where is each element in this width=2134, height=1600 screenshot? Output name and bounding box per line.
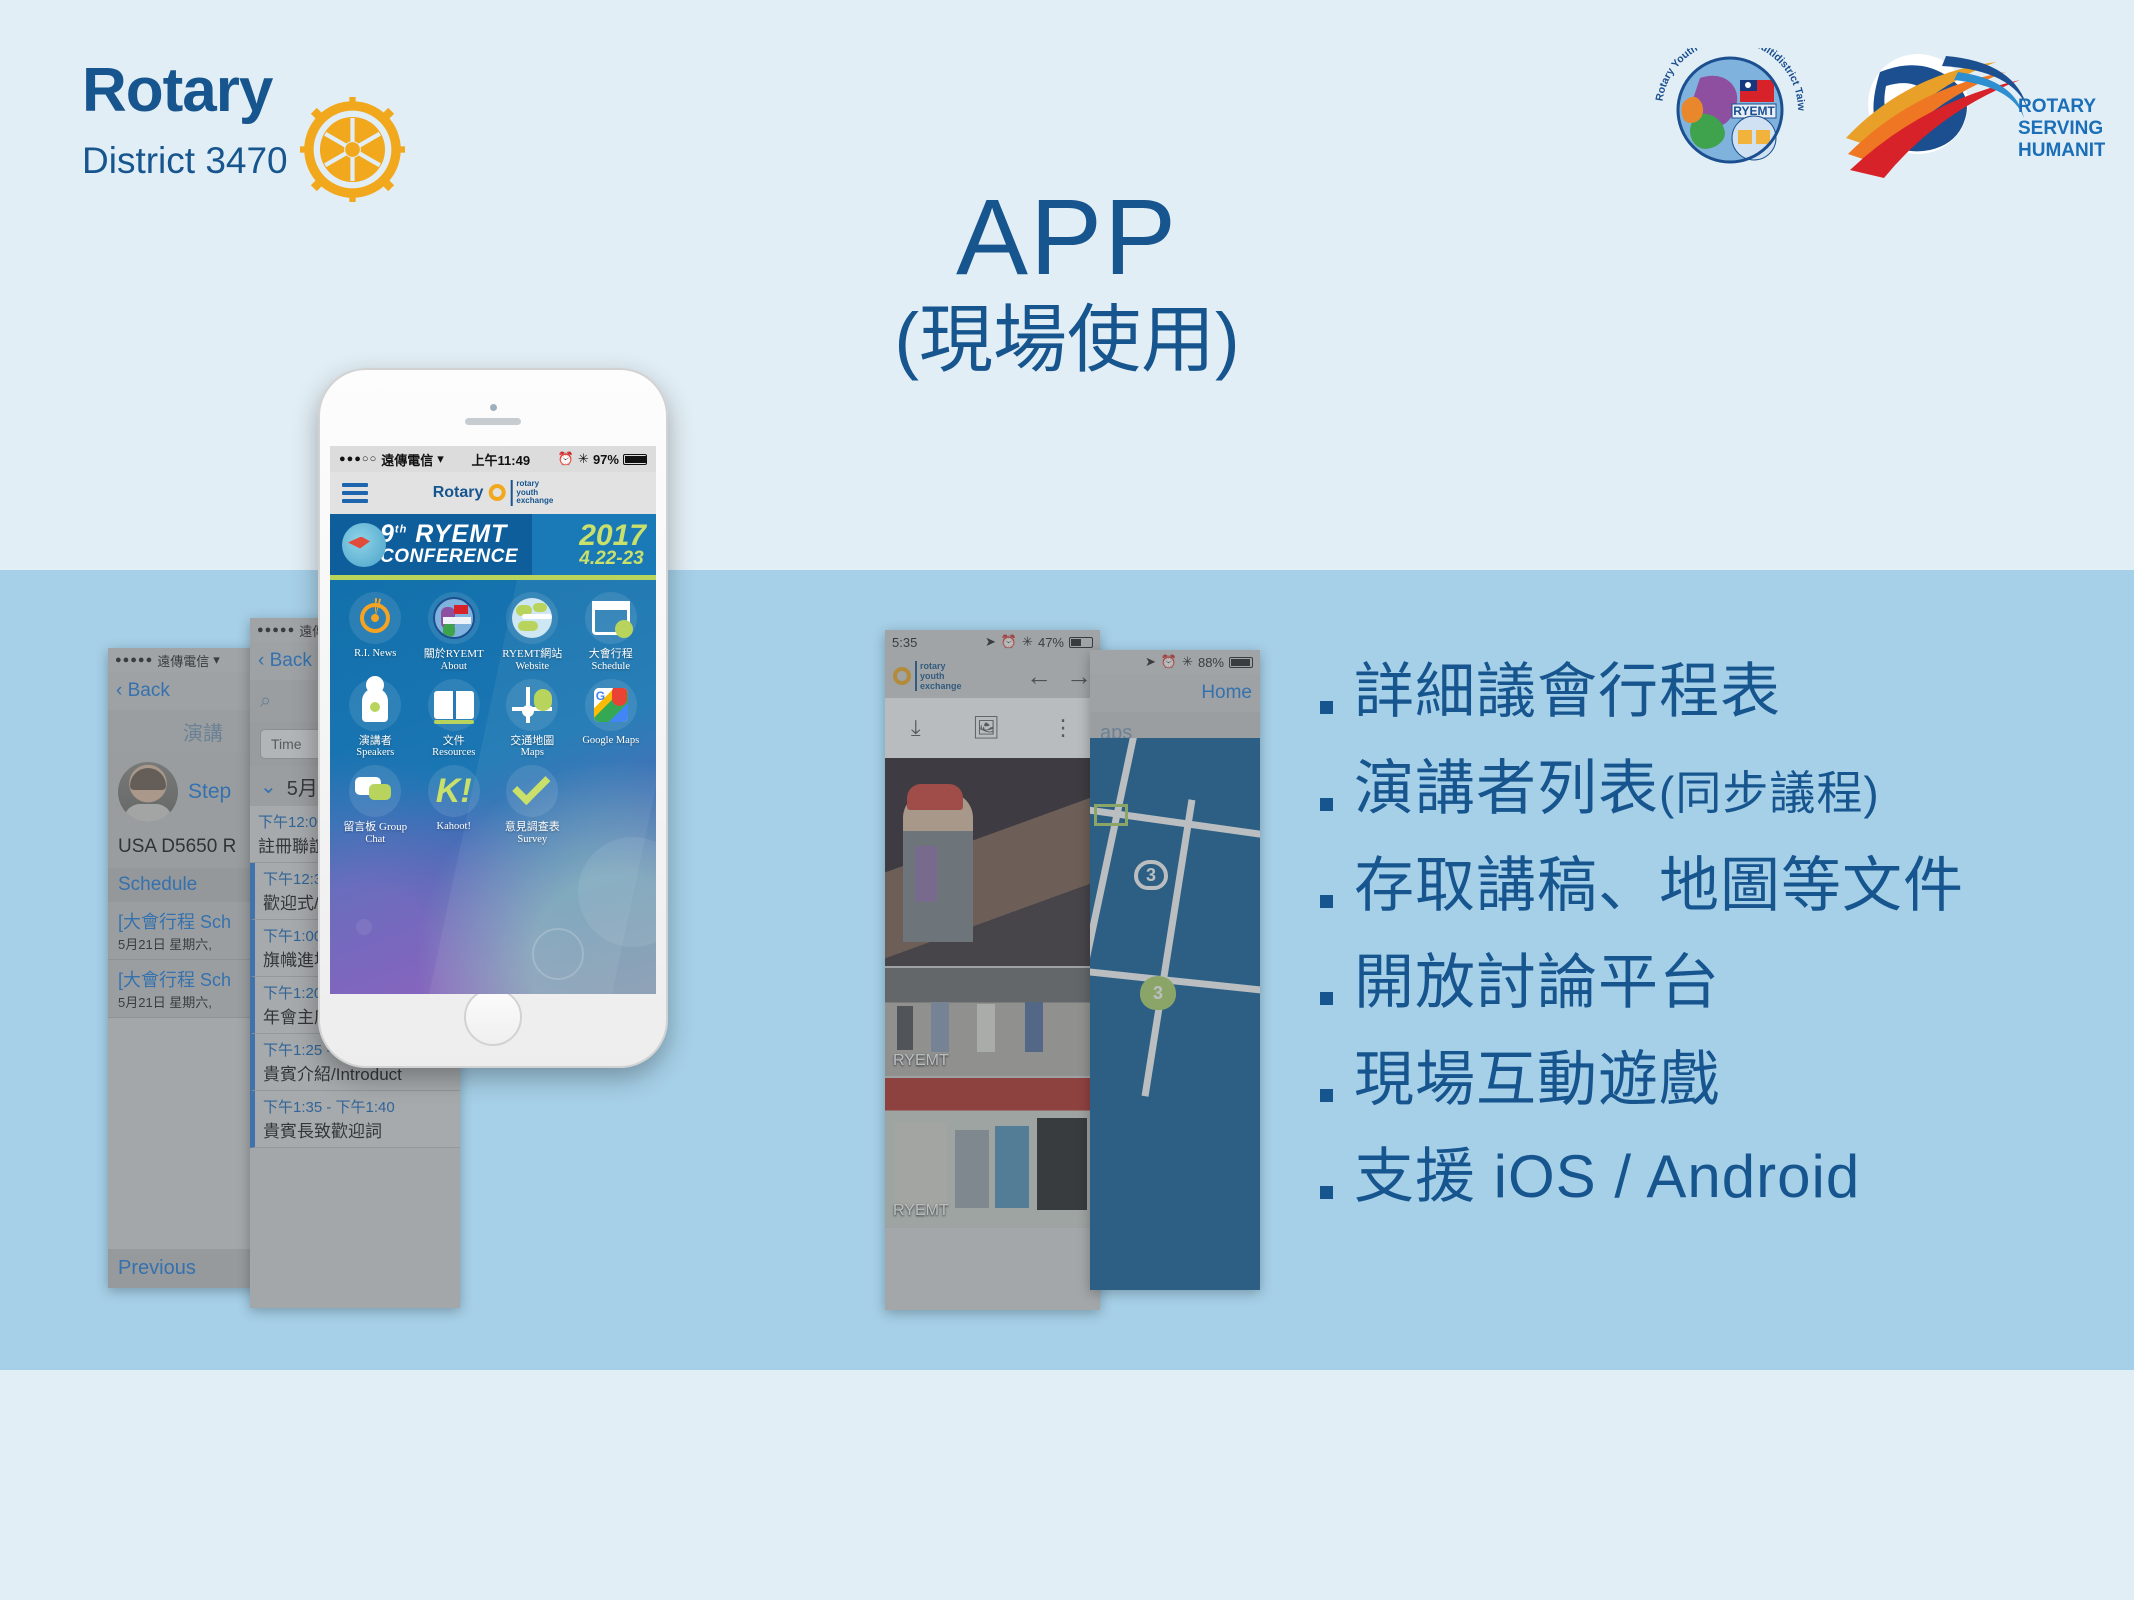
earpiece-speaker [465, 418, 521, 425]
banner-ordinal-suffix: th [395, 524, 407, 536]
battery-icon [623, 454, 647, 465]
battery-label: 88% [1198, 655, 1224, 670]
carrier-label: 遠傳電信 [157, 651, 209, 670]
bullet-text: 開放討論平台 [1354, 951, 1720, 1014]
tile-label-zh: 交通地圖 [493, 735, 572, 748]
bullet-text: 存取講稿、地圖等文件 [1354, 854, 1964, 917]
google-maps-icon: G [585, 679, 637, 731]
tile-label-en: Resources [415, 747, 494, 759]
banner-text: 9th RYEMT CONFERENCE [380, 523, 518, 566]
tile-label-en: About [415, 661, 494, 673]
photo-tag: RYEMT [893, 1052, 949, 1070]
signal-dots-icon: ●●●●● [115, 654, 153, 666]
kahoot-k-icon: K! [428, 765, 480, 817]
photo-tag: RYEMT [893, 1202, 949, 1220]
home-button[interactable] [464, 988, 522, 1046]
home-button[interactable]: Home [1201, 682, 1252, 704]
app-tile-ri-news[interactable]: R.I. News [336, 592, 415, 673]
bullet-main: 演講者列表 [1354, 755, 1659, 822]
tile-label-zh: 留言板 Group [336, 821, 415, 834]
app-nav-bar: Rotary rotary youth exchange [330, 472, 656, 514]
tile-label-en: Maps [493, 747, 572, 759]
bullet-text: 現場互動遊戲 [1354, 1048, 1720, 1111]
chat-bubbles-icon [349, 765, 401, 817]
app-icon-grid: R.I. News 關於RYEMT About [330, 580, 656, 994]
bullet-marker-icon [1320, 951, 1354, 1009]
map-canvas[interactable]: 3 3 [1090, 738, 1260, 1290]
bullet-main: 詳細議會行程表 [1354, 658, 1781, 725]
banner-event: CONFERENCE [380, 547, 518, 566]
slide-title-block: APP (現場使用) [0, 180, 2134, 381]
battery-icon [1069, 637, 1093, 648]
brand-line-3: exchange [920, 681, 962, 691]
tile-label-en: Schedule [572, 661, 651, 673]
search-icon: ⌕ [260, 690, 271, 713]
app-tile-google-maps[interactable]: G Google Maps [572, 679, 651, 760]
bullet-marker-icon [1320, 854, 1354, 912]
tile-label-zh: 意見調查表 [493, 821, 572, 834]
tile-label-zh: RYEMT網站 [493, 648, 572, 661]
clock-label: 上午11:49 [472, 450, 531, 469]
gallery-photo[interactable]: RYEMT [885, 968, 1100, 1078]
list-item: 演講者列表(同步議程) [1320, 757, 2080, 820]
nav-bar: Home [1090, 674, 1260, 712]
location-arrow-icon: ➤ [1145, 654, 1156, 670]
rotary-wheel-news-icon [349, 592, 401, 644]
app-tile-website[interactable]: RYEMT網站 Website [493, 592, 572, 673]
phone-maps-screen[interactable]: ➤ ⏰ ✳ 88% Home aps 3 3 [1090, 650, 1260, 1290]
wifi-icon: ▾ [213, 652, 220, 668]
signal-dots-icon: ●●●●● [257, 624, 295, 636]
chevron-down-icon[interactable]: ⌄ [260, 774, 277, 799]
brand-wordmark: Rotary [433, 484, 484, 502]
search-title: 演講 [183, 717, 223, 746]
bullet-text: 詳細議會行程表 [1354, 660, 1781, 723]
brand-line-1: rotary [920, 661, 962, 671]
speaker-name: Step [188, 780, 231, 804]
bullet-marker-icon [1320, 660, 1354, 718]
bluetooth-icon: ✳ [578, 451, 589, 467]
icon-row: R.I. News 關於RYEMT About [336, 592, 650, 673]
arrow-right-icon[interactable]: → [1066, 661, 1092, 692]
decorative-bubble [356, 919, 372, 935]
calendar-clock-icon [585, 592, 637, 644]
gallery-photo[interactable] [885, 758, 1100, 968]
district-label: District 3470 [82, 140, 288, 182]
svg-text:ROTARY: ROTARY [2018, 96, 2096, 117]
app-tile-speakers[interactable]: 演講者 Speakers [336, 679, 415, 760]
alarm-icon: ⏰ [558, 451, 574, 467]
gallery-toolbar: ⤓ 🖼 ⋮ [885, 698, 1100, 758]
battery-label: 47% [1038, 635, 1064, 650]
globe-plane-icon [342, 523, 386, 567]
back-label: Back [270, 650, 312, 671]
gallery-nav-bar: rotary youth exchange ← → [885, 654, 1100, 698]
clock-label: 5:35 [892, 635, 917, 650]
app-tile-empty [572, 765, 651, 846]
gallery-photo[interactable]: RYEMT [885, 1078, 1100, 1228]
bullet-marker-icon [1320, 757, 1354, 815]
icon-row: 演講者 Speakers 文件 Resources [336, 679, 650, 760]
phone-gallery-screen[interactable]: 5:35 ➤ ⏰ ✳ 47% rotary youth exchange ← →… [885, 630, 1100, 1310]
app-tile-maps[interactable]: 交通地圖 Maps [493, 679, 572, 760]
brand-line-3: exchange [516, 497, 553, 506]
background-band-bottom [0, 1370, 2134, 1600]
tile-label-en: Speakers [336, 747, 415, 759]
bullet-main: 支援 iOS / Android [1354, 1143, 1860, 1210]
table-row[interactable]: 下午1:35 - 下午1:40 貴賓長致歡迎詞 [250, 1091, 460, 1148]
list-item: 現場互動遊戲 [1320, 1048, 2080, 1111]
tile-label-zh: 大會行程 [572, 648, 651, 661]
globe-icon [506, 592, 558, 644]
app-tile-survey[interactable]: 意見調查表 Survey [493, 765, 572, 846]
alarm-icon: ⏰ [1001, 634, 1017, 650]
app-tile-about[interactable]: 關於RYEMT About [415, 592, 494, 673]
wifi-icon: ▾ [437, 451, 444, 467]
battery-label: 97% [593, 452, 619, 467]
brand-tagline: rotary youth exchange [510, 480, 553, 507]
bullet-marker-icon [1320, 1145, 1354, 1203]
banner-date-block: 2017 4.22-23 [579, 522, 646, 568]
phone-screen[interactable]: ●●●○○ 遠傳電信 ▾ 上午11:49 ⏰ ✳ 97% Rotary rota… [330, 446, 656, 994]
list-item: 支援 iOS / Android [1320, 1145, 2080, 1208]
bullet-main: 開放討論平台 [1354, 949, 1720, 1016]
brand-line-2: youth [920, 671, 962, 681]
banner-year: 2017 [579, 522, 646, 549]
main-phone-device[interactable]: ●●●○○ 遠傳電信 ▾ 上午11:49 ⏰ ✳ 97% Rotary rota… [318, 368, 668, 1068]
rotary-wheel-icon [488, 484, 505, 501]
tile-label-en: R.I. News [336, 648, 415, 660]
bullet-note: (同步議程) [1659, 767, 1880, 819]
add-image-icon[interactable]: 🖼 [972, 715, 1000, 741]
map-road [1142, 799, 1196, 1096]
tile-label-en: Website [493, 661, 572, 673]
map-marker-blue[interactable]: 3 [1134, 860, 1168, 890]
back-button[interactable]: ‹ Back [116, 680, 170, 702]
map-marker-green[interactable]: 3 [1140, 976, 1176, 1010]
conference-banner[interactable]: 9th RYEMT CONFERENCE 2017 4.22-23 [330, 514, 656, 580]
feature-bullet-list: 詳細議會行程表 演講者列表(同步議程) 存取講稿、地圖等文件 開放討論平台 現場… [1320, 660, 2080, 1242]
speaker-person-icon [349, 679, 401, 731]
banner-title: 9th RYEMT [380, 523, 518, 547]
back-button[interactable]: ‹ Back [258, 650, 312, 672]
status-bar: ●●●○○ 遠傳電信 ▾ 上午11:49 ⏰ ✳ 97% [330, 446, 656, 472]
open-book-icon [428, 679, 480, 731]
status-bar: ➤ ⏰ ✳ 88% [1090, 650, 1260, 674]
map-pin-icon [506, 679, 558, 731]
checkmark-icon [506, 765, 558, 817]
banner-name: RYEMT [415, 520, 507, 548]
status-bar: 5:35 ➤ ⏰ ✳ 47% [885, 630, 1100, 654]
bullet-main: 現場互動遊戲 [1354, 1046, 1720, 1113]
arrow-left-icon[interactable]: ← [1026, 661, 1052, 692]
ryemt-emblem-icon [428, 592, 480, 644]
decorative-ring [532, 928, 584, 980]
rotary-wordmark: Rotary [82, 60, 272, 122]
tile-label-en: Google Maps [572, 735, 651, 747]
rotary-wheel-icon [893, 667, 911, 685]
svg-text:HUMANITY: HUMANITY [2018, 140, 2105, 161]
map-landmark-icon [1094, 804, 1128, 826]
signal-dots-icon: ●●●○○ [339, 453, 377, 465]
tile-label-zh: 演講者 [336, 735, 415, 748]
front-camera [490, 404, 497, 411]
app-tile-schedule[interactable]: 大會行程 Schedule [572, 592, 651, 673]
event-name: 貴賓長致歡迎詞 [263, 1117, 452, 1142]
banner-dates: 4.22-23 [579, 549, 646, 568]
carrier-label: 遠傳電信 [381, 450, 433, 469]
bluetooth-icon: ✳ [1182, 654, 1193, 670]
avatar [118, 762, 178, 822]
page-title: APP [0, 180, 2134, 293]
app-tile-group-chat[interactable]: 留言板 Group Chat [336, 765, 415, 846]
list-item: 存取講稿、地圖等文件 [1320, 854, 2080, 917]
bullet-marker-icon [1320, 1048, 1354, 1106]
tile-label-zh: 關於RYEMT [415, 648, 494, 661]
bluetooth-icon: ✳ [1022, 634, 1033, 650]
bullet-text: 支援 iOS / Android [1354, 1145, 1860, 1208]
svg-text:SERVING: SERVING [2018, 118, 2103, 139]
ryemt-logo: RYEMT Rotary Youth Exchange Multidistric… [1650, 48, 1810, 178]
download-cloud-icon[interactable]: ⤓ [911, 715, 921, 741]
bullet-text: 演講者列表(同步議程) [1354, 757, 1880, 820]
list-item: 開放討論平台 [1320, 951, 2080, 1014]
app-brand-logo: Rotary rotary youth exchange [433, 480, 554, 507]
tile-label-zh: 文件 [415, 735, 494, 748]
tile-label-en: Survey [493, 834, 572, 846]
bullet-main: 存取講稿、地圖等文件 [1354, 852, 1964, 919]
list-item: 詳細議會行程表 [1320, 660, 2080, 723]
icon-row: 留言板 Group Chat K! Kahoot! 意見調查表 Survey [336, 765, 650, 846]
app-tile-resources[interactable]: 文件 Resources [415, 679, 494, 760]
rotary-serving-humanity-logo: ROTARY SERVING HUMANITY [1840, 42, 2105, 182]
back-label: Back [128, 680, 170, 701]
more-vertical-icon[interactable]: ⋮ [1052, 721, 1074, 734]
battery-icon [1229, 657, 1253, 668]
alarm-icon: ⏰ [1161, 654, 1177, 670]
tile-label-en: Kahoot! [415, 821, 494, 833]
hamburger-menu-icon[interactable] [342, 479, 368, 507]
location-arrow-icon: ➤ [985, 634, 996, 650]
tile-label-en: Chat [336, 834, 415, 846]
event-time: 下午1:35 - 下午1:40 [263, 1096, 452, 1117]
map-road [1090, 738, 1138, 1025]
app-tile-kahoot[interactable]: K! Kahoot! [415, 765, 494, 846]
